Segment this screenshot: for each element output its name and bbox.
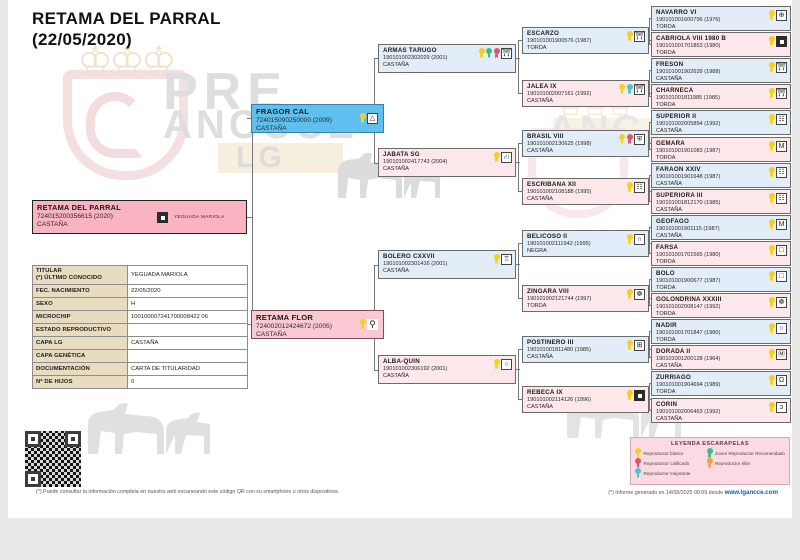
legend-title: LEYENDA ESCARAPELAS bbox=[631, 438, 789, 447]
rosette-basic-yellow bbox=[769, 219, 775, 230]
table-row-key: ESTADO REPRODUCTIVO bbox=[33, 324, 128, 337]
legend-label: Reproductor élite bbox=[715, 461, 750, 466]
rosette-orange bbox=[707, 458, 713, 469]
ancestor-box[interactable]: BELICOSO II190101002111942 (1995)NEGRA∩ bbox=[522, 230, 649, 257]
wheel-icon: ☸ bbox=[776, 297, 787, 308]
rosette-basic-yellow bbox=[769, 10, 775, 21]
frame-picture-icon: △ bbox=[367, 113, 378, 124]
ancestor-id: 190101001701853 (1980) bbox=[656, 43, 787, 50]
ancestor-id: 190101002005854 (1992) bbox=[656, 121, 787, 128]
connector-line bbox=[252, 217, 253, 325]
table-row-value: YEGUADA MARIOLA bbox=[128, 266, 248, 285]
connector-line bbox=[649, 70, 650, 96]
ancestor-box[interactable]: ESCRIBANA XII190101002108188 (1995)CASTA… bbox=[522, 178, 649, 205]
table-row: FEC. NACIMIENTO22/05/2020 bbox=[33, 285, 248, 298]
legend-row: Reproductor élite bbox=[707, 459, 785, 469]
ancestor-name: GEOFAGO bbox=[656, 218, 787, 226]
ancestor-coat: CASTAÑA bbox=[527, 404, 645, 411]
bucket-icon: □ bbox=[776, 245, 787, 256]
ancestor-icons: ⛨ bbox=[619, 134, 645, 145]
table-row-value bbox=[128, 350, 248, 363]
ancestor-coat: CASTAÑA bbox=[656, 207, 787, 214]
s2-icon: Ω bbox=[776, 375, 787, 386]
ancestor-id: 190101001200128 (1964) bbox=[656, 356, 787, 363]
rosette-basic-yellow bbox=[627, 182, 633, 193]
trophy-cup-icon: ♖ bbox=[501, 254, 512, 265]
ancestor-box[interactable]: POSTINERO III190101001811480 (1985)CASTA… bbox=[522, 336, 649, 363]
circle-icon: ○ bbox=[776, 323, 787, 334]
rosette-basic-yellow bbox=[494, 359, 500, 370]
legend-row: Reproductor mejorante bbox=[635, 469, 703, 479]
ancestor-coat: NEGRA bbox=[527, 248, 645, 255]
ladder-icon: ☷ bbox=[776, 114, 787, 125]
circle-icon: ○ bbox=[501, 359, 512, 370]
ancestor-coat: CASTAÑA bbox=[527, 148, 645, 155]
ancestor-icons: ○ bbox=[769, 323, 788, 334]
square-badge-icon bbox=[157, 212, 168, 223]
subject-breeder: YEGUADA MARIOLA bbox=[174, 215, 225, 220]
ancestor-icons: ⛩ bbox=[619, 84, 645, 95]
connector-line bbox=[649, 383, 650, 410]
ancestor-box[interactable]: ESCARZO190101001900576 (1987)TORDA⛩ bbox=[522, 27, 649, 54]
crown-mp-icon: Ⓜ bbox=[776, 349, 787, 360]
rosette-basic-yellow bbox=[769, 62, 775, 73]
table-row: CAPA LGCASTAÑA bbox=[33, 337, 248, 350]
rosette-basic-yellow bbox=[627, 340, 633, 351]
connector-line bbox=[518, 349, 519, 399]
table-row-key: CAPA LG bbox=[33, 337, 128, 350]
table-row: SEXOH bbox=[33, 298, 248, 311]
footer-note-left: (*) Puede consultar la información compl… bbox=[36, 489, 339, 495]
table-row: TITULAR(*) ÚLTIMO CONOCIDOYEGUADA MARIOL… bbox=[33, 266, 248, 285]
rosette-basic-yellow bbox=[494, 254, 500, 265]
ancestor-icons: ○ bbox=[494, 359, 513, 370]
rosette-basic-yellow bbox=[479, 48, 485, 59]
rosette-red bbox=[494, 48, 500, 59]
ancestor-box[interactable]: ZURRIAGO190101001904694 (1989)TORDAΩ bbox=[651, 371, 791, 396]
rosette-basic-yellow bbox=[769, 141, 775, 152]
footer-generated-text: (*) Informe generado en 14/08/2025 09:09… bbox=[608, 490, 724, 496]
legend-label: Reproductor básico bbox=[644, 451, 684, 456]
ancestor-box[interactable]: REBECA IX190101002114126 (1996)CASTAÑA bbox=[522, 386, 649, 413]
rosette-basic-yellow bbox=[769, 323, 775, 334]
ancestor-coat: TORDA bbox=[656, 389, 787, 396]
connector-line bbox=[518, 143, 519, 191]
pedigree-document: ♔♔♔ PRE ANCCCE LG ♔♔♔ ANC bbox=[0, 0, 800, 560]
ancestor-icons: □ bbox=[769, 271, 788, 282]
table-key-line2: (*) ÚLTIMO CONOCIDO bbox=[36, 275, 124, 283]
gate-icon: ⛩ bbox=[776, 62, 787, 73]
table-row-value bbox=[128, 324, 248, 337]
page-title-line1: RETAMA DEL PARRAL bbox=[32, 8, 362, 29]
ancestor-icons: Ω bbox=[769, 375, 788, 386]
ancestor-coat: CASTAÑA bbox=[383, 373, 512, 380]
rosette-basic-yellow bbox=[769, 193, 775, 204]
ancestor-coat: CASTAÑA bbox=[656, 76, 787, 83]
rosette-basic-yellow bbox=[619, 134, 625, 145]
connector-line bbox=[649, 18, 650, 44]
rosette-green bbox=[486, 48, 492, 59]
ancestor-id: 190101001701565 (1980) bbox=[656, 252, 787, 259]
ancestor-box[interactable]: GOLONDRINA XXXIII190101002008147 (1992)T… bbox=[651, 293, 791, 318]
ancestor-box[interactable]: ARMAS TARUGO190101002302029 (2001)CASTAÑ… bbox=[378, 44, 516, 73]
qr-eye-bl bbox=[25, 471, 41, 487]
sire-coat: CASTAÑA bbox=[256, 125, 380, 133]
crown-watermark-icon: ♔♔♔ bbox=[70, 48, 180, 76]
table-row-key: TITULAR(*) ÚLTIMO CONOCIDO bbox=[33, 266, 128, 285]
ancestor-icons: ☸ bbox=[627, 289, 646, 300]
table-row-value: 100100007241700008422 06 bbox=[128, 311, 248, 324]
connector-line bbox=[649, 122, 650, 149]
rosette-basic-yellow bbox=[769, 349, 775, 360]
ancestor-icons: ⊕ bbox=[769, 10, 788, 21]
ancestor-coat: TORDA bbox=[656, 155, 787, 162]
ancestor-icons: Ⓜ bbox=[769, 349, 788, 360]
ancestor-coat: CASTAÑA bbox=[383, 166, 512, 173]
table-row: DOCUMENTACIÓNCARTA DE TITULARIDAD bbox=[33, 363, 248, 376]
details-table: TITULAR(*) ÚLTIMO CONOCIDOYEGUADA MARIOL… bbox=[32, 265, 248, 389]
footer-url-link[interactable]: www.lgancce.com bbox=[725, 489, 778, 496]
dam-coat: CASTAÑA bbox=[256, 331, 380, 339]
legend-column-left: Reproductor básicoReproductor calificado… bbox=[635, 449, 703, 479]
rosette-basic-yellow bbox=[627, 31, 633, 42]
ancestor-coat: TORDA bbox=[656, 259, 787, 266]
rosette-basic-icon bbox=[360, 319, 366, 330]
ancestor-box[interactable]: NADIR190101001701847 (1980)TORDA○ bbox=[651, 319, 791, 344]
ancestor-icons: ⛩ bbox=[479, 48, 513, 59]
gate-icon: ⛩ bbox=[776, 88, 787, 99]
legend-row: Joven Reproductor Recomendado bbox=[707, 449, 785, 459]
rosette-basic-yellow bbox=[769, 36, 775, 47]
connector-line bbox=[252, 118, 253, 218]
ancestor-id: 190101001902639 (1988) bbox=[656, 69, 787, 76]
rosette-basic-icon bbox=[360, 113, 366, 124]
footer-note-right: (*) Informe generado en 14/08/2025 09:09… bbox=[608, 489, 778, 496]
ancestor-coat: CASTAÑA bbox=[383, 268, 512, 275]
ancestor-name: FRESON bbox=[656, 61, 787, 69]
ancestor-icons: ⛩ bbox=[627, 31, 646, 42]
rosette-cyan bbox=[627, 84, 633, 95]
ancestor-box[interactable]: JALEA IX190101002007161 (1992)CASTAÑA⛩ bbox=[522, 80, 649, 107]
qr-code[interactable] bbox=[22, 428, 84, 490]
ancestor-name: FARSA bbox=[656, 244, 787, 252]
horses-watermark-image-2 bbox=[68, 378, 218, 463]
ancestor-icons: M bbox=[769, 141, 788, 152]
ancestor-box[interactable]: CABRIOLA VIII 1980 B190101001701853 (198… bbox=[651, 32, 791, 57]
ancestor-id: 190101001900677 (1987) bbox=[656, 278, 787, 285]
ancestor-coat: CASTAÑA bbox=[383, 62, 512, 69]
ancestor-id: 190101001811985 (1985) bbox=[656, 95, 787, 102]
ancestor-icons: ⛩ bbox=[769, 62, 788, 73]
ancestor-id: 190101001901115 (1987) bbox=[656, 226, 787, 233]
shield-icon: ⛨ bbox=[634, 134, 645, 145]
qr-eye-tr bbox=[65, 431, 81, 447]
ancestor-coat: TORDA bbox=[656, 337, 787, 344]
ladder-icon: ☷ bbox=[634, 182, 645, 193]
ancestor-box[interactable]: ALBA-QUIN190101002306192 (2001)CASTAÑA○ bbox=[378, 355, 516, 384]
ancestor-coat: CASTAÑA bbox=[527, 98, 645, 105]
bucket-icon: □ bbox=[776, 271, 787, 282]
ancestor-id: 190101002006463 (1992) bbox=[656, 409, 787, 416]
ancestor-box[interactable]: NAVARRO VI190101001600796 (1976)TORDA⊕ bbox=[651, 6, 791, 31]
table-row-key: DOCUMENTACIÓN bbox=[33, 363, 128, 376]
ancestor-icons: ⛩ bbox=[769, 88, 788, 99]
ancestor-box[interactable]: ZINGARA VIII190101002121744 (1997)TORDA☸ bbox=[522, 285, 649, 312]
ancestor-icons: ☷ bbox=[769, 114, 788, 125]
watermark-lg-band bbox=[218, 143, 343, 173]
table-row-value: H bbox=[128, 298, 248, 311]
loom-icon: ⛙ bbox=[501, 152, 512, 163]
ancestor-coat: TORDA bbox=[656, 24, 787, 31]
rosette-basic-yellow bbox=[494, 152, 500, 163]
table-row-key: CAPA GENÉTICA bbox=[33, 350, 128, 363]
ancestor-icons bbox=[769, 36, 788, 47]
legend-column-right: Joven Reproductor RecomendadoReproductor… bbox=[707, 449, 785, 479]
ancestor-id: 190101002008147 (1992) bbox=[656, 304, 787, 311]
ancestor-name: GOLONDRINA XXXIII bbox=[656, 296, 787, 304]
ancestor-box[interactable]: SUPERIORA III190101001812170 (1985)CASTA… bbox=[651, 189, 791, 214]
table-row-key: MICROCHIP bbox=[33, 311, 128, 324]
gate-icon: ⛩ bbox=[634, 84, 645, 95]
ancestor-box[interactable]: BOLERO CXXVII190101002301416 (2001)CASTA… bbox=[378, 250, 516, 279]
table-row-value: 22/05/2020 bbox=[128, 285, 248, 298]
ancestor-name: NADIR bbox=[656, 322, 787, 330]
rosette-basic-yellow bbox=[619, 84, 625, 95]
legend-label: Reproductor calificado bbox=[644, 461, 690, 466]
qr-eye-tl bbox=[25, 431, 41, 447]
dam-box[interactable]: RETAMA FLOR 724002012424672 (2005) CASTA… bbox=[251, 310, 384, 339]
ancestor-box[interactable]: GEMARA190101001901083 (1987)TORDAM bbox=[651, 137, 791, 162]
ancestor-name: NAVARRO VI bbox=[656, 9, 787, 17]
table-row-key: SEXO bbox=[33, 298, 128, 311]
gate-icon: ⛩ bbox=[634, 31, 645, 42]
ancestor-icons: ☷ bbox=[769, 167, 788, 178]
ancestor-coat: CASTAÑA bbox=[656, 363, 787, 370]
ancestor-box[interactable]: GEOFAGO190101001901115 (1987)CASTAÑAM bbox=[651, 215, 791, 240]
ancestor-coat: TORDA bbox=[656, 102, 787, 109]
horseshoe-icon: ∩ bbox=[634, 234, 645, 245]
rosette-basic-yellow bbox=[627, 234, 633, 245]
ancestor-id: 190101001901083 (1987) bbox=[656, 148, 787, 155]
ancestor-id: 190101001904694 (1989) bbox=[656, 382, 787, 389]
table-row: ESTADO REPRODUCTIVO bbox=[33, 324, 248, 337]
ancestor-name: FARAON XXIV bbox=[656, 166, 787, 174]
ancestor-icons: ☸ bbox=[769, 297, 788, 308]
rosette-basic-yellow bbox=[627, 289, 633, 300]
ancestor-name: SUPERIOR II bbox=[656, 113, 787, 121]
ancestor-name: BOLO bbox=[656, 270, 787, 278]
ancestor-icons: ♖ bbox=[494, 254, 513, 265]
table-row-key: FEC. NACIMIENTO bbox=[33, 285, 128, 298]
ancestor-icons: M bbox=[769, 219, 788, 230]
rosette-basic-yellow bbox=[769, 402, 775, 413]
ancestor-name: CABRIOLA VIII 1980 B bbox=[656, 35, 787, 43]
subject-box[interactable]: RETAMA DEL PARRAL 724015200356615 (2020)… bbox=[32, 200, 247, 234]
ancestor-box[interactable]: FRESON190101001902639 (1988)CASTAÑA⛩ bbox=[651, 58, 791, 83]
ancestor-name: DORADA II bbox=[656, 348, 787, 356]
trophy-cup-icon: ⚲ bbox=[367, 319, 378, 330]
table-row: MICROCHIP100100007241700008422 06 bbox=[33, 311, 248, 324]
ancestor-id: 190101001901648 (1987) bbox=[656, 174, 787, 181]
ancestor-icons: ☷ bbox=[627, 182, 646, 193]
ancestor-coat: TORDA bbox=[527, 303, 645, 310]
connector-line bbox=[518, 243, 519, 298]
horse-head-watermark-icon bbox=[86, 92, 144, 158]
table-row-value: CARTA DE TITULARIDAD bbox=[128, 363, 248, 376]
shield-watermark-icon bbox=[63, 70, 188, 180]
rosette-cyan bbox=[635, 468, 641, 479]
ancestor-name: SUPERIORA III bbox=[656, 192, 787, 200]
ancestor-coat: CASTAÑA bbox=[656, 128, 787, 135]
connector-line bbox=[649, 227, 650, 253]
legend-row: Reproductor calificado bbox=[635, 459, 703, 469]
ancestor-coat: CASTAÑA bbox=[527, 354, 645, 361]
ancestor-name: CORIN bbox=[656, 401, 787, 409]
ancestor-box[interactable]: SUPERIOR II190101002005854 (1992)CASTAÑA… bbox=[651, 110, 791, 135]
legend-row: Reproductor básico bbox=[635, 449, 703, 459]
ancestor-id: 190101001701847 (1980) bbox=[656, 330, 787, 337]
rosette-red bbox=[627, 134, 633, 145]
page-title-line2: (22/05/2020) bbox=[32, 29, 362, 50]
rosette-basic-yellow bbox=[769, 271, 775, 282]
ancestor-coat: CASTAÑA bbox=[656, 416, 787, 423]
ancestor-name: GEMARA bbox=[656, 140, 787, 148]
legend-label: Joven Reproductor Recomendado bbox=[715, 451, 785, 456]
ancestor-box[interactable]: FARSA190101001701565 (1980)TORDA□ bbox=[651, 241, 791, 266]
table-row: CAPA GENÉTICA bbox=[33, 350, 248, 363]
connector-line bbox=[649, 279, 650, 305]
ancestor-box[interactable]: BRASIL VIII190101002130625 (1998)CASTAÑA… bbox=[522, 130, 649, 157]
table-row-value: CASTAÑA bbox=[128, 337, 248, 350]
ancestor-icons bbox=[627, 390, 646, 401]
ancestor-icons: ↄ bbox=[769, 402, 788, 413]
ancestor-coat: CASTAÑA bbox=[527, 196, 645, 203]
rosette-basic-yellow bbox=[769, 167, 775, 178]
ancestor-box[interactable]: CHARNECA190101001811985 (1985)TORDA⛩ bbox=[651, 84, 791, 109]
ladder-icon: ☷ bbox=[776, 193, 787, 204]
ancestor-name: ZURRIAGO bbox=[656, 374, 787, 382]
globe-icon: ⊕ bbox=[776, 10, 787, 21]
ancestor-box[interactable]: CORIN190101002006463 (1992)CASTAÑAↄ bbox=[651, 398, 791, 423]
connector-line bbox=[649, 175, 650, 201]
rosette-basic-yellow bbox=[769, 114, 775, 125]
ancestor-box[interactable]: JABATA SG190101002417743 (2004)CASTAÑA⛙ bbox=[378, 148, 516, 177]
ancestor-name: CHARNECA bbox=[656, 87, 787, 95]
ancestor-icons: ⛙ bbox=[494, 152, 513, 163]
table-row: Nº DE HIJOS0 bbox=[33, 376, 248, 389]
connector-line bbox=[649, 331, 650, 357]
ancestor-icons: ⊞ bbox=[627, 340, 646, 351]
rosette-basic-yellow bbox=[769, 297, 775, 308]
table-key-line1: TITULAR bbox=[36, 268, 124, 276]
ancestor-coat: TORDA bbox=[527, 45, 645, 52]
ancestor-box[interactable]: DORADA II190101001200128 (1964)CASTAÑAⓂ bbox=[651, 345, 791, 370]
ancestor-icons: ∩ bbox=[627, 234, 646, 245]
ancestor-box[interactable]: FARAON XXIV190101001901648 (1987)CASTAÑA… bbox=[651, 163, 791, 188]
ancestor-coat: CASTAÑA bbox=[656, 233, 787, 240]
connector-line bbox=[518, 40, 519, 93]
wheel-icon: ☸ bbox=[634, 289, 645, 300]
ladder-icon: ☷ bbox=[776, 167, 787, 178]
rosette-basic-yellow bbox=[769, 375, 775, 386]
sire-box[interactable]: FRAGOR CAL 724015090250000 (2009) CASTAÑ… bbox=[251, 104, 384, 133]
page-title: RETAMA DEL PARRAL (22/05/2020) bbox=[32, 8, 362, 50]
ancestor-icons: □ bbox=[769, 245, 788, 256]
ancestor-box[interactable]: BOLO190101001900677 (1987)TORDA□ bbox=[651, 267, 791, 292]
window-icon: ⊞ bbox=[634, 340, 645, 351]
curve-icon: ↄ bbox=[776, 402, 787, 413]
rosette-basic-yellow bbox=[627, 390, 633, 401]
ancestor-coat: TORDA bbox=[656, 285, 787, 292]
ancestor-coat: TORDA bbox=[656, 311, 787, 318]
ancestor-coat: TORDA bbox=[656, 50, 787, 57]
rosette-basic-yellow bbox=[769, 245, 775, 256]
table-row-value: 0 bbox=[128, 376, 248, 389]
crown-m-icon: M bbox=[776, 141, 787, 152]
legend-label: Reproductor mejorante bbox=[644, 471, 691, 476]
table-row-key: Nº DE HIJOS bbox=[33, 376, 128, 389]
ancestor-coat: CASTAÑA bbox=[656, 181, 787, 188]
ancestor-icons: ☷ bbox=[769, 193, 788, 204]
ancestor-id: 190101001812170 (1985) bbox=[656, 200, 787, 207]
ancestor-id: 190101001600796 (1976) bbox=[656, 17, 787, 24]
document-sheet: ♔♔♔ PRE ANCCCE LG ♔♔♔ ANC bbox=[8, 0, 792, 518]
watermark-lg: LG bbox=[236, 141, 286, 175]
crown-m-icon: M bbox=[776, 219, 787, 230]
gate-icon: ⛩ bbox=[501, 48, 512, 59]
square-badge-icon bbox=[634, 390, 645, 401]
rosette-basic-yellow bbox=[769, 88, 775, 99]
square-badge-icon bbox=[776, 36, 787, 47]
rosette-legend: LEYENDA ESCARAPELAS Reproductor básicoRe… bbox=[630, 437, 790, 485]
